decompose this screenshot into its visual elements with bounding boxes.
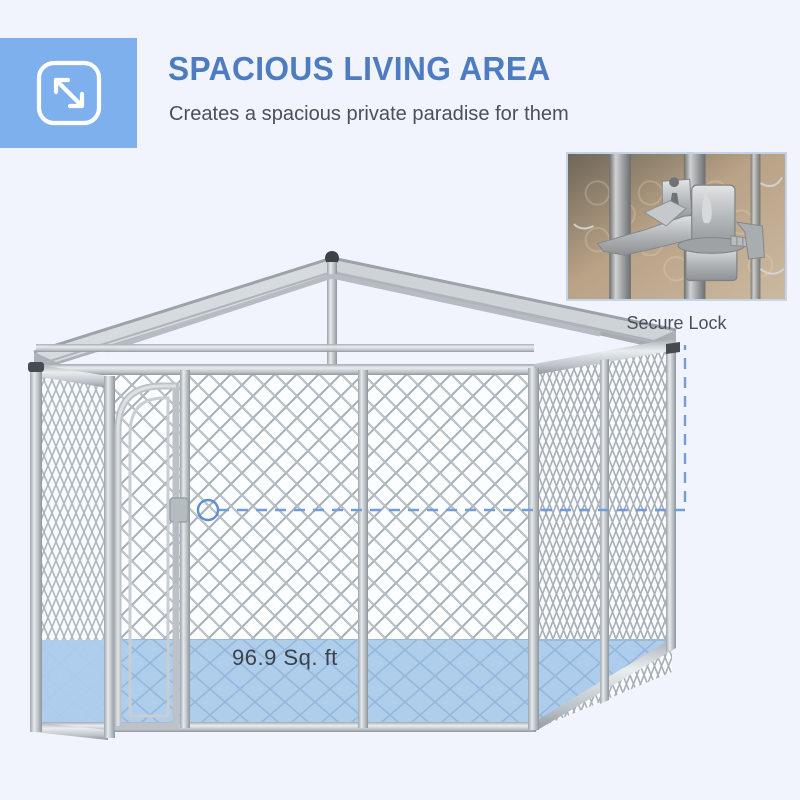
infographic-canvas: SPACIOUS LIVING AREA Creates a spacious … [0,0,800,800]
product-illustration [0,0,800,800]
door-latch-icon[interactable] [170,498,188,522]
gate-latch-illustration [568,154,785,299]
secure-lock-photo [566,152,787,301]
secure-lock-caption: Secure Lock [566,313,787,334]
mid-rail [36,344,534,352]
floor-area-label: 96.9 Sq. ft [232,645,338,671]
